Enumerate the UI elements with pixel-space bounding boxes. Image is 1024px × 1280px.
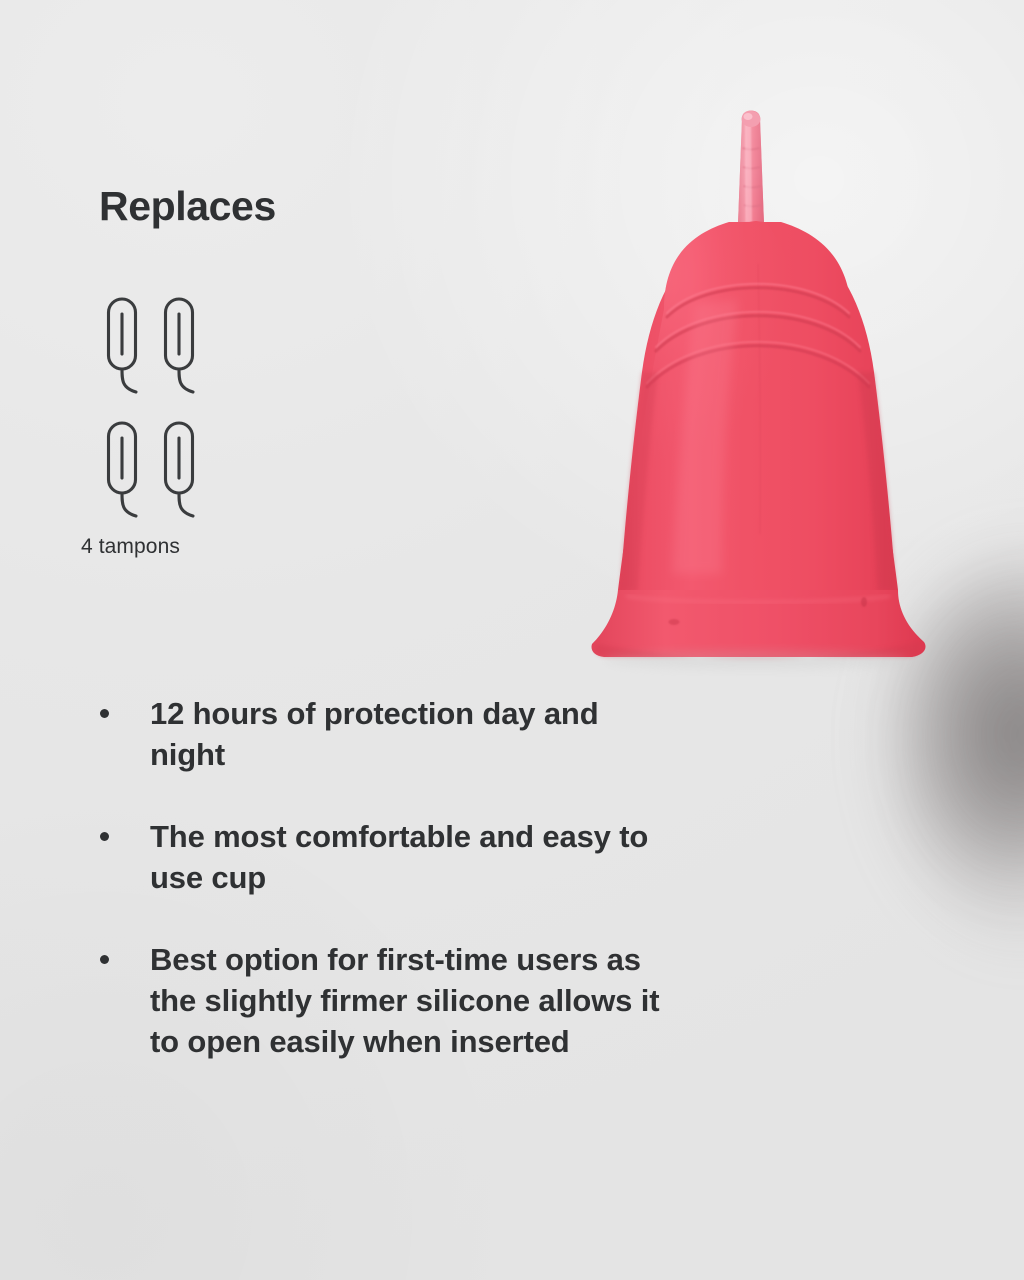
tampon-count-label: 4 tampons	[81, 535, 180, 559]
benefit-list-item: 12 hours of protection day and night	[96, 694, 676, 775]
tampon-icon	[103, 420, 160, 544]
cup-body	[591, 184, 898, 591]
bullet-icon	[100, 709, 109, 718]
product-feature-card: Replaces	[0, 0, 1024, 1280]
menstrual-cup-image	[546, 104, 966, 684]
tampon-icon	[160, 420, 217, 544]
tampon-icon	[103, 296, 160, 420]
bullet-icon	[100, 955, 109, 964]
benefit-text: The most comfortable and easy to use cup	[150, 819, 648, 895]
benefit-text: 12 hours of protection day and night	[150, 696, 599, 772]
page-title: Replaces	[99, 186, 276, 227]
benefit-list-item: The most comfortable and easy to use cup	[96, 817, 676, 898]
tampon-icon-group	[103, 296, 238, 544]
bullet-icon	[100, 832, 109, 841]
cup-rim	[592, 590, 926, 659]
benefit-list-item: Best option for first-time users as the …	[96, 940, 676, 1062]
benefit-list: 12 hours of protection day and night The…	[96, 694, 676, 1062]
benefit-text: Best option for first-time users as the …	[150, 942, 659, 1058]
tampon-icon	[160, 296, 217, 420]
cup-stem	[738, 111, 764, 225]
